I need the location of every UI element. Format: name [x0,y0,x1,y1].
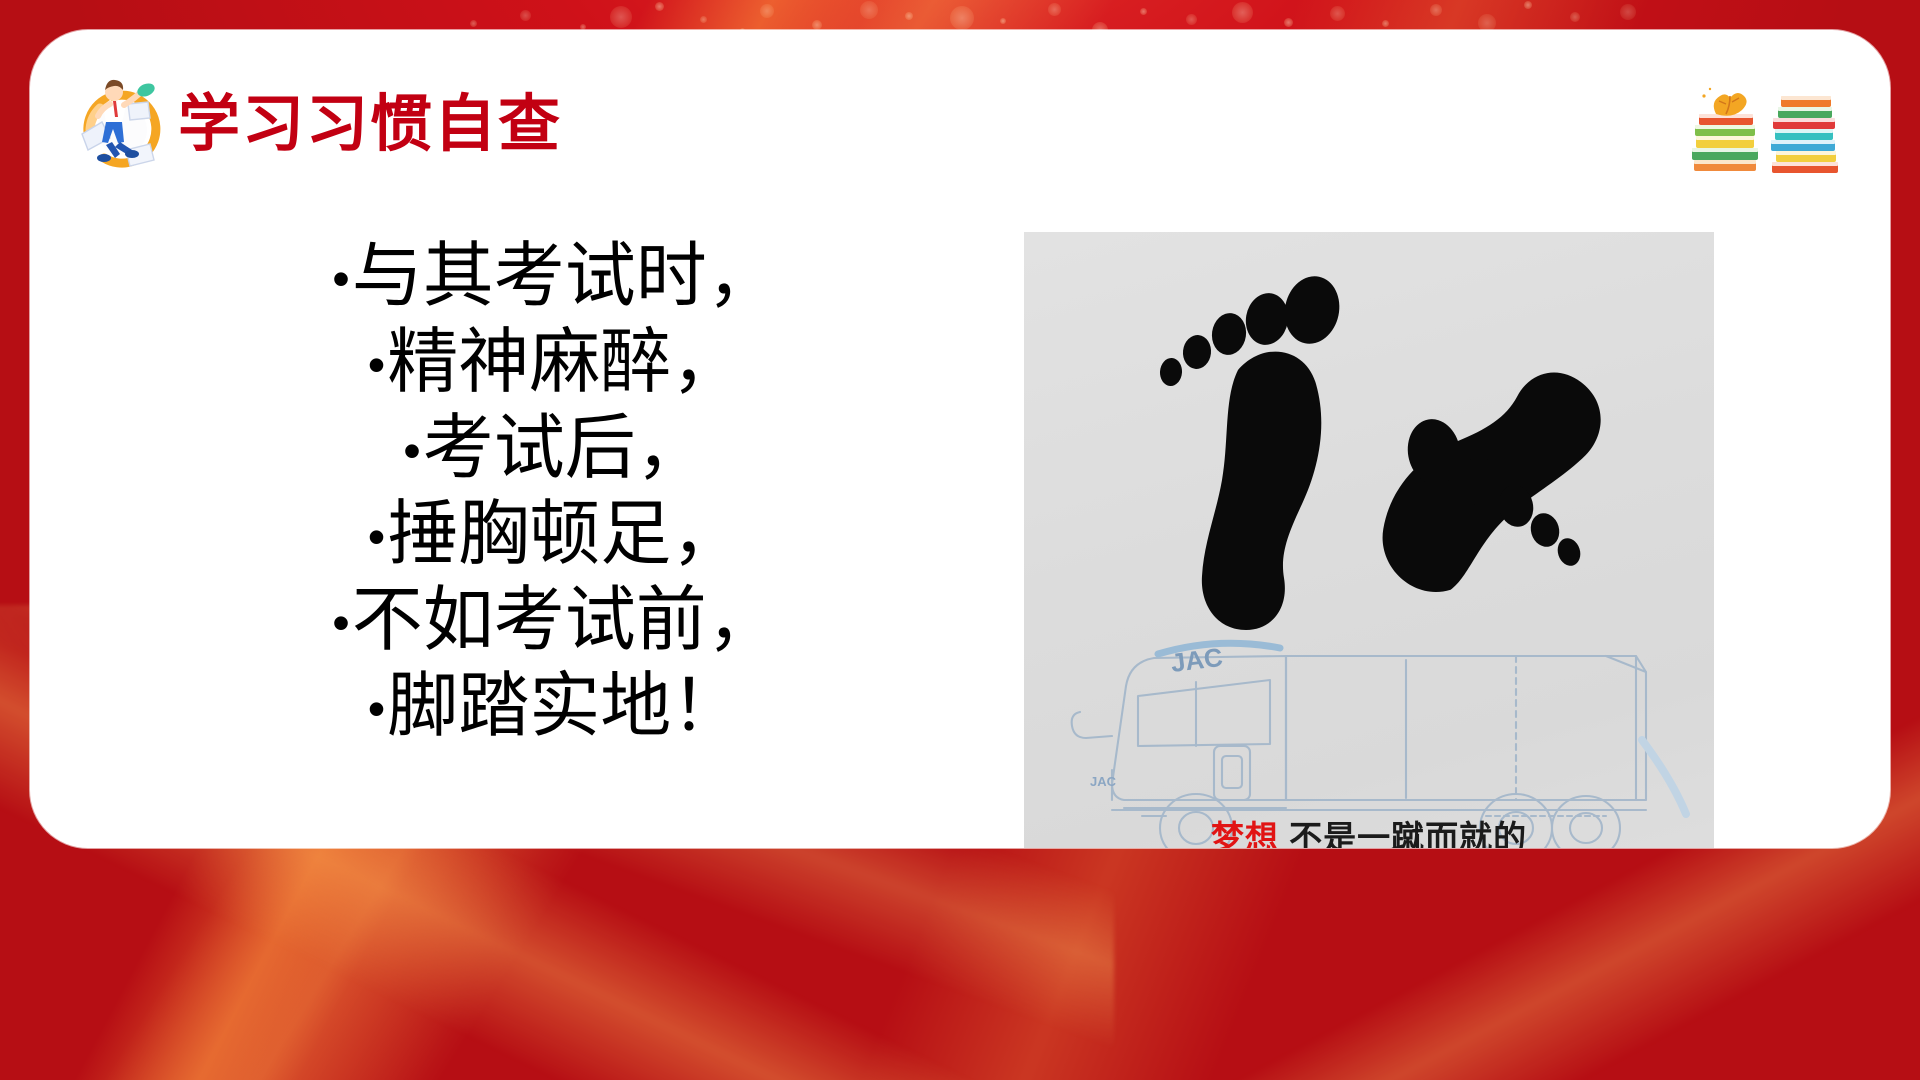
slide-root: 学习习惯自查 [0,0,1920,1080]
student-running-clock-icon [70,72,174,176]
list-item: •捶胸顿足， [205,493,905,579]
bokeh-dot [950,6,974,30]
bullet-marker: • [368,509,386,565]
bullet-marker: • [368,681,386,737]
bullet-text: 精神麻醉， [387,323,742,402]
content-panel: 学习习惯自查 [30,30,1890,848]
bokeh-dot [1620,4,1636,20]
list-item: •脚踏实地！ [205,665,905,751]
motivational-poster-image: JAC JAC 梦想 不是一蹴而就的 而是一步一个脚印 走出来的 Dreams … [1024,232,1714,848]
bokeh-dot [760,4,774,18]
bokeh-dot [1186,14,1197,25]
bokeh-dot [1382,20,1389,27]
bokeh-dot [700,16,707,23]
bokeh-dot [1140,8,1147,15]
bokeh-dot [1430,4,1442,16]
bokeh-dot [470,20,477,27]
bokeh-dot [905,12,913,20]
poster-caption-line: 梦想 不是一蹴而就的 [1024,814,1714,848]
bullet-marker: • [332,251,350,307]
bullet-marker: • [368,337,386,393]
bokeh-dot [1524,1,1532,9]
bullet-text: 考试后， [423,409,707,488]
list-item: •不如考试前， [205,579,905,665]
bokeh-dot [1000,18,1006,24]
truck-brand-label: JAC [1169,642,1225,678]
bullet-list: •与其考试时， •精神麻醉， •考试后， •捶胸顿足， •不如考试前， •脚踏实… [205,235,905,751]
poster-chinese-caption: 梦想 不是一蹴而就的 而是一步一个脚印 走出来的 [1024,814,1714,848]
poster-caption-plain: 不是一蹴而就的 [1279,819,1527,848]
stacked-books-icon [1686,78,1846,178]
bokeh-dot [1284,18,1293,27]
bokeh-dot [1232,2,1253,23]
list-item: •考试后， [205,407,905,493]
bokeh-dot [520,10,531,21]
bokeh-dot [812,20,822,30]
bokeh-dot [860,1,878,19]
slide-header: 学习习惯自查 [30,30,1890,180]
bokeh-dot [610,6,632,28]
bokeh-dot [1330,6,1345,21]
bullet-marker: • [332,595,350,651]
page-title: 学习习惯自查 [178,88,562,162]
bullet-text: 脚踏实地！ [387,667,742,746]
bokeh-dot [655,2,664,11]
list-item: •精神麻醉， [205,321,905,407]
list-item: •与其考试时， [205,235,905,321]
poster-caption-highlight: 梦想 [1211,819,1279,848]
bullet-text: 与其考试时， [352,237,778,316]
bullet-marker: • [403,423,421,479]
truck-brand-label-small: JAC [1090,774,1117,789]
bullet-text: 不如考试前， [352,581,778,660]
bullet-text: 捶胸顿足， [387,495,742,574]
bokeh-dot [1048,3,1061,16]
bokeh-dot [1570,12,1580,22]
